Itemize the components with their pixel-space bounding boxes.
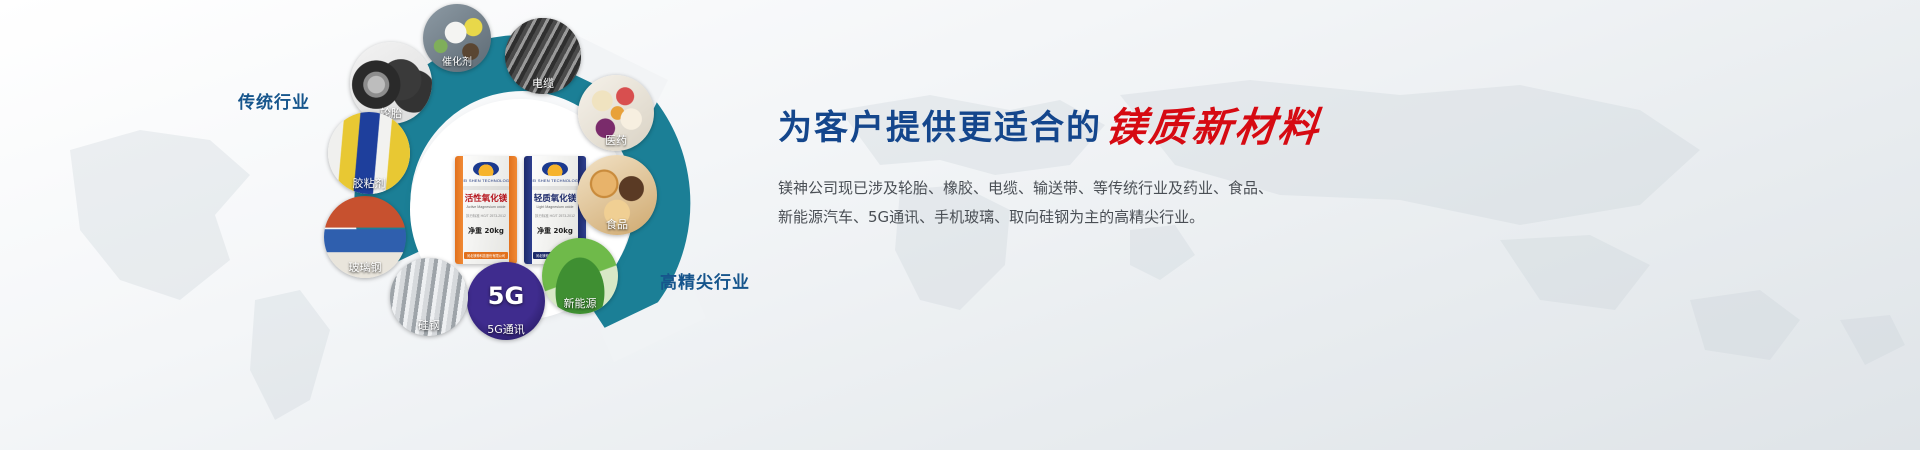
node-adhesive[interactable]: 胶粘剂 xyxy=(328,112,410,194)
node-adhesive-label: 胶粘剂 xyxy=(328,176,410,194)
bag-title: 活性氧化镁 xyxy=(465,194,508,204)
bag-title: 轻质氧化镁 xyxy=(534,194,577,204)
node-medicine[interactable]: 医药 xyxy=(578,75,654,151)
node-catalyst-label: 催化剂 xyxy=(423,56,491,72)
node-5g-label: 5G通讯 xyxy=(467,322,545,340)
bag-spec: 执行标准 HG/T 2573-2012 xyxy=(535,214,575,219)
section-label-high-tech: 高精尖行业 xyxy=(660,268,750,293)
body-copy: 镁神公司现已涉及轮胎、橡胶、电缆、输送带、等传统行业及药业、食品、新能源汽车、5… xyxy=(778,174,1276,232)
headline: 为客户提供更适合的 镁质新材料 xyxy=(778,108,1478,148)
node-5g[interactable]: 5G 5G通讯 xyxy=(467,262,545,340)
node-catalyst[interactable]: 催化剂 xyxy=(423,4,491,72)
node-silicon-steel-label: 硅钢 xyxy=(390,318,468,336)
node-frp-label: 玻璃钢 xyxy=(324,260,406,278)
hero-copy-block: 为客户提供更适合的 镁质新材料 镁神公司现已涉及轮胎、橡胶、电缆、输送带、等传统… xyxy=(778,108,1478,232)
body-copy-line-2: 能源汽车、5G通讯、手机玻璃、取向硅钢为主的高精尖行业。 xyxy=(793,208,1204,226)
bag-stripe-left xyxy=(524,156,532,264)
node-cable[interactable]: 电缆 xyxy=(505,18,581,94)
industry-circle-infographic: MEI SHEN TECHNOLOGY 活性氧化镁 Active Magnesi… xyxy=(300,0,800,450)
node-cable-label: 电缆 xyxy=(505,76,581,94)
bag-divider xyxy=(463,186,509,190)
bag-footer: 河北镁神科技股份有限公司 xyxy=(464,252,508,259)
node-new-energy[interactable]: 新能源 xyxy=(542,238,618,314)
bag-subtitle: Active Magnesium oxide xyxy=(467,205,506,209)
bag-net-weight: 净重 20kg xyxy=(468,226,504,236)
node-food-label: 食品 xyxy=(577,217,657,235)
node-new-energy-label: 新能源 xyxy=(542,296,618,314)
bag-stripe-left xyxy=(455,156,463,264)
node-frp[interactable]: 玻璃钢 xyxy=(324,196,406,278)
bag-brand: MEI SHEN TECHNOLOGY xyxy=(460,178,512,183)
node-food[interactable]: 食品 xyxy=(577,155,657,235)
bag-subtitle: Light Magnesium oxide xyxy=(537,205,574,209)
headline-accent-text: 镁质新材料 xyxy=(1104,108,1323,148)
bag-stripe-right xyxy=(509,156,517,264)
node-medicine-label: 医药 xyxy=(578,133,654,151)
bag-brand: MEI SHEN TECHNOLOGY xyxy=(529,178,581,183)
bag-spec: 执行标准 HG/T 2573-2012 xyxy=(466,214,506,219)
brand-logo-icon xyxy=(542,162,568,176)
bag-net-weight: 净重 20kg xyxy=(537,226,573,236)
section-label-traditional: 传统行业 xyxy=(238,88,310,113)
product-bag-active-magnesium-oxide: MEI SHEN TECHNOLOGY 活性氧化镁 Active Magnesi… xyxy=(455,156,517,264)
headline-main-text: 为客户提供更适合的 xyxy=(778,108,1102,148)
brand-logo-icon xyxy=(473,162,499,176)
bag-divider xyxy=(532,186,578,190)
